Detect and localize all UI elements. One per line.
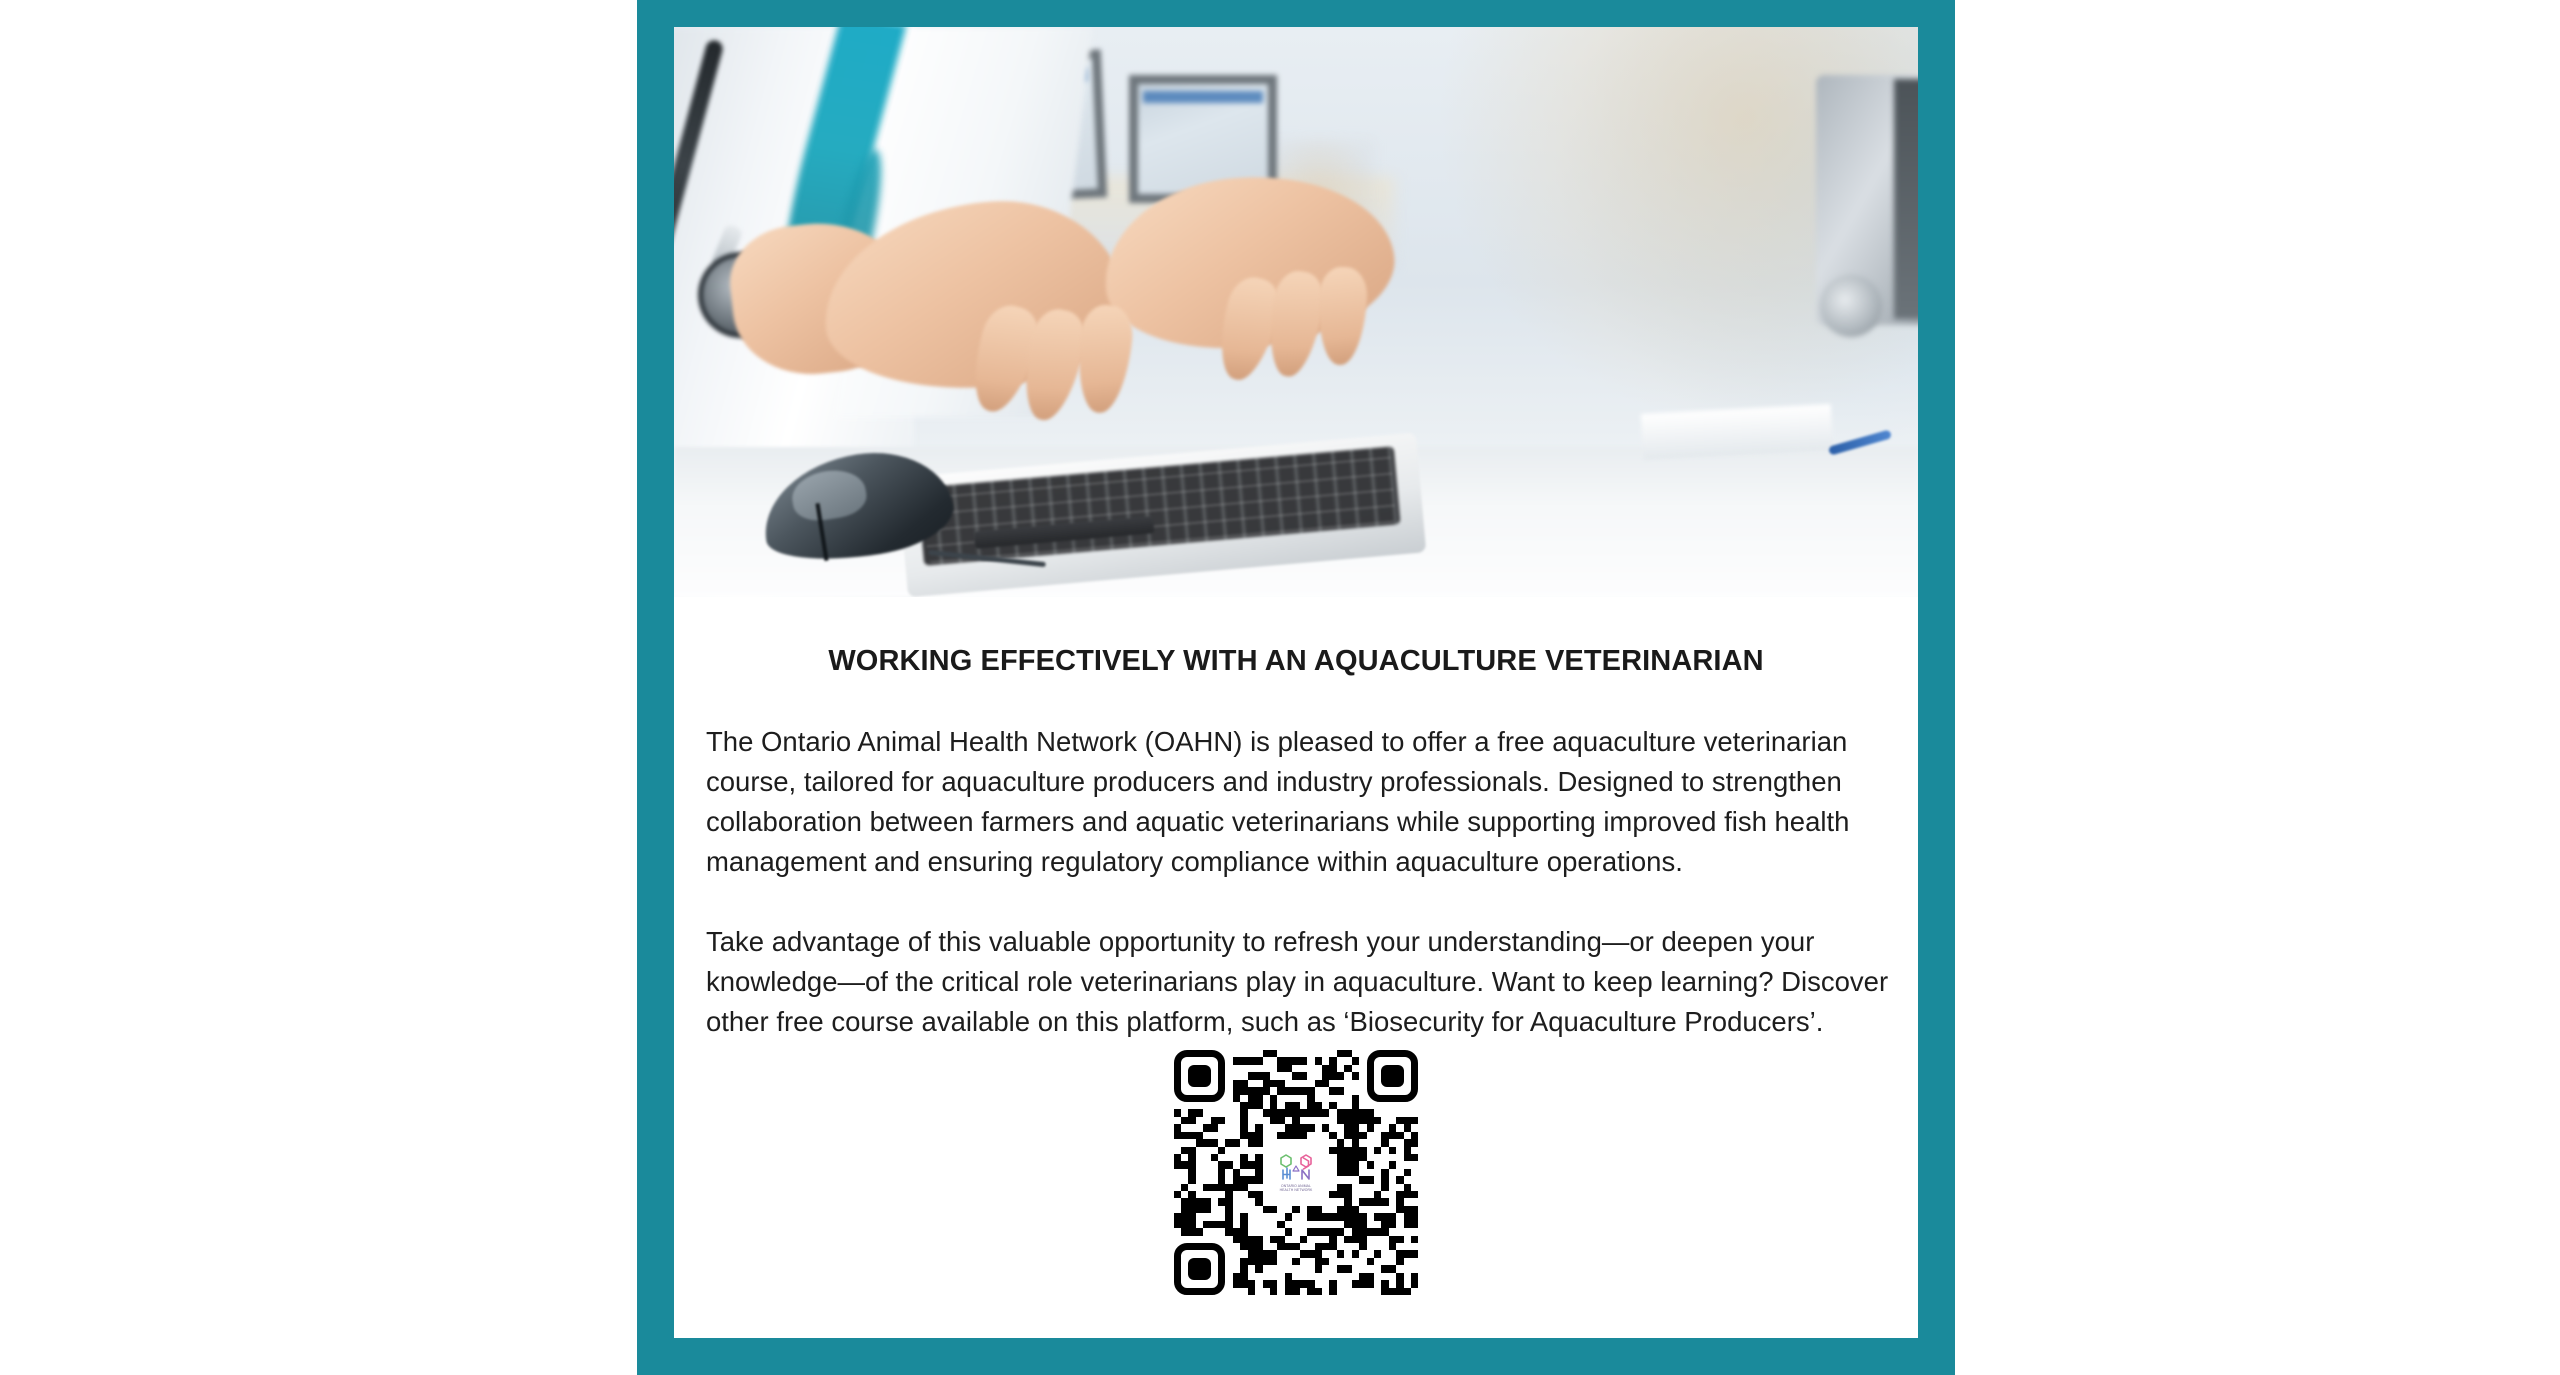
qr-finder-center [1188,1258,1210,1280]
poster-content: WORKING EFFECTIVELY WITH AN AQUACULTURE … [674,645,1918,1295]
oahn-logo-caption: ONTARIO ANIMAL HEALTH NETWORK [1280,1184,1313,1192]
paragraph-call-to-action: Take advantage of this valuable opportun… [706,922,1896,1042]
qr-finder-center [1188,1065,1210,1087]
page-title: WORKING EFFECTIVELY WITH AN AQUACULTURE … [690,645,1902,678]
desk-speaker [1820,275,1882,337]
qr-code[interactable]: ONTARIO ANIMAL HEALTH NETWORK [1174,1050,1419,1295]
poster-body: The Ontario Animal Health Network (OAHN)… [690,722,1902,1042]
monitor-titlebar [1143,91,1263,103]
hero-photo [674,27,1918,597]
screenshot-page: WORKING EFFECTIVELY WITH AN AQUACULTURE … [0,0,2560,1375]
poster-white-card: WORKING EFFECTIVELY WITH AN AQUACULTURE … [674,27,1918,1338]
paragraph-intro: The Ontario Animal Health Network (OAHN)… [706,722,1896,882]
oahn-monogram-icon [1279,1153,1313,1183]
monitor-far-right-bezel [1894,79,1918,319]
poster-teal-frame: WORKING EFFECTIVELY WITH AN AQUACULTURE … [637,0,1955,1375]
oahn-logo-icon: ONTARIO ANIMAL HEALTH NETWORK [1268,1148,1324,1198]
qr-finder-center [1381,1065,1403,1087]
